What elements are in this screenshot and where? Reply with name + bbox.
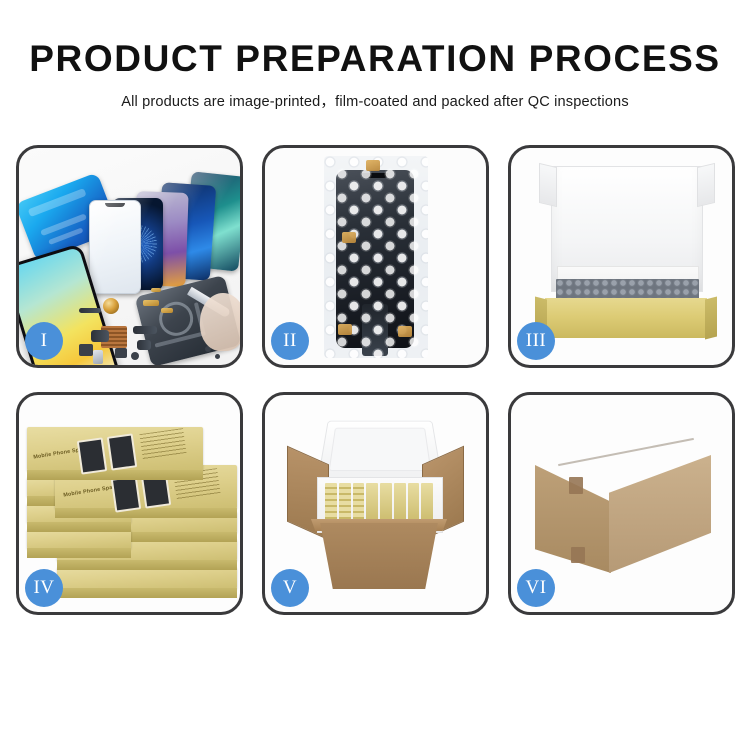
- process-step-card-4[interactable]: Mobile Phone Spare Parts Mobile Phone Sp…: [16, 392, 243, 615]
- step-badge-3: III: [517, 322, 555, 360]
- inner-box-base-graphic: [545, 298, 707, 338]
- tape-piece-bottom-left: [338, 324, 352, 335]
- tape-piece-bottom-right: [398, 326, 412, 337]
- header: PRODUCT PREPARATION PROCESS All products…: [0, 0, 750, 111]
- step-badge-5: V: [271, 569, 309, 607]
- carton-body-graphic: [309, 523, 449, 589]
- step-badge-6: VI: [517, 569, 555, 607]
- process-step-grid: I II: [16, 145, 735, 615]
- tape-piece-mid: [342, 232, 356, 243]
- hand-graphic: [200, 293, 240, 351]
- bubble-wrap-bag-graphic: [324, 156, 428, 358]
- process-step-card-1[interactable]: I: [16, 145, 243, 368]
- step-badge-1: I: [25, 322, 63, 360]
- process-step-card-6[interactable]: VI: [508, 392, 735, 615]
- carton-tape-bottom: [571, 547, 585, 563]
- page-title: PRODUCT PREPARATION PROCESS: [0, 40, 750, 79]
- carton-tape-top: [569, 477, 583, 494]
- tape-piece-top: [366, 160, 380, 171]
- process-step-card-3[interactable]: III: [508, 145, 735, 368]
- process-step-card-5[interactable]: V: [262, 392, 489, 615]
- step-badge-4: IV: [25, 569, 63, 607]
- page-subtitle: All products are image-printed，film-coat…: [0, 90, 750, 111]
- packed-boxes-graphic: [325, 483, 433, 523]
- step-badge-2: II: [271, 322, 309, 360]
- printed-box-1: Mobile Phone Spare Parts: [27, 427, 203, 471]
- process-step-card-2[interactable]: II: [262, 145, 489, 368]
